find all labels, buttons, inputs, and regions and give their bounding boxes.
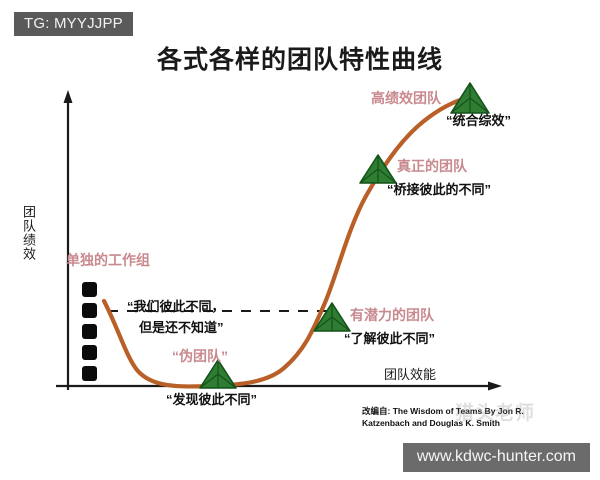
dashed-caption-line1: “我们彼此不同， [127,299,225,315]
tg-tag-badge: TG: MYYJJPP [14,12,133,36]
working-group-square [82,345,97,360]
label-high-performance-team: 高绩效团队 [371,90,441,108]
working-group-square [82,366,97,381]
working-group-square [82,282,97,297]
dashed-caption-line2: 但是还不知道” [139,320,224,336]
chart-canvas: 各式各样的团队特性曲线 团队绩效 团队效能 单独的工作组 “伪团队” “发现彼此… [0,0,600,480]
label-real-team: 真正的团队 [397,158,467,176]
site-url-watermark: www.kdwc-hunter.com [403,443,590,472]
quote-pseudo-team: “发现彼此不同” [166,392,257,408]
quote-real-team: “桥接彼此的不同” [387,182,491,198]
marker-triangle-high-performance-team [451,83,489,113]
label-potential-team: 有潜力的团队 [350,307,434,325]
source-attribution: 改编自: The Wisdom of Teams By Jon R. Katze… [362,405,524,430]
label-pseudo-team: “伪团队” [172,348,228,366]
page-title: 各式各样的团队特性曲线 [0,40,600,76]
working-group-square [82,324,97,339]
y-axis-label: 团队绩效 [22,205,35,261]
y-axis [64,90,73,390]
working-group-square [82,303,97,318]
x-axis-label: 团队效能 [384,367,436,383]
label-working-group: 单独的工作组 [66,252,150,270]
quote-potential-team: “了解彼此不同” [344,331,435,347]
quote-high-performance-team: “统合综效” [446,113,511,129]
